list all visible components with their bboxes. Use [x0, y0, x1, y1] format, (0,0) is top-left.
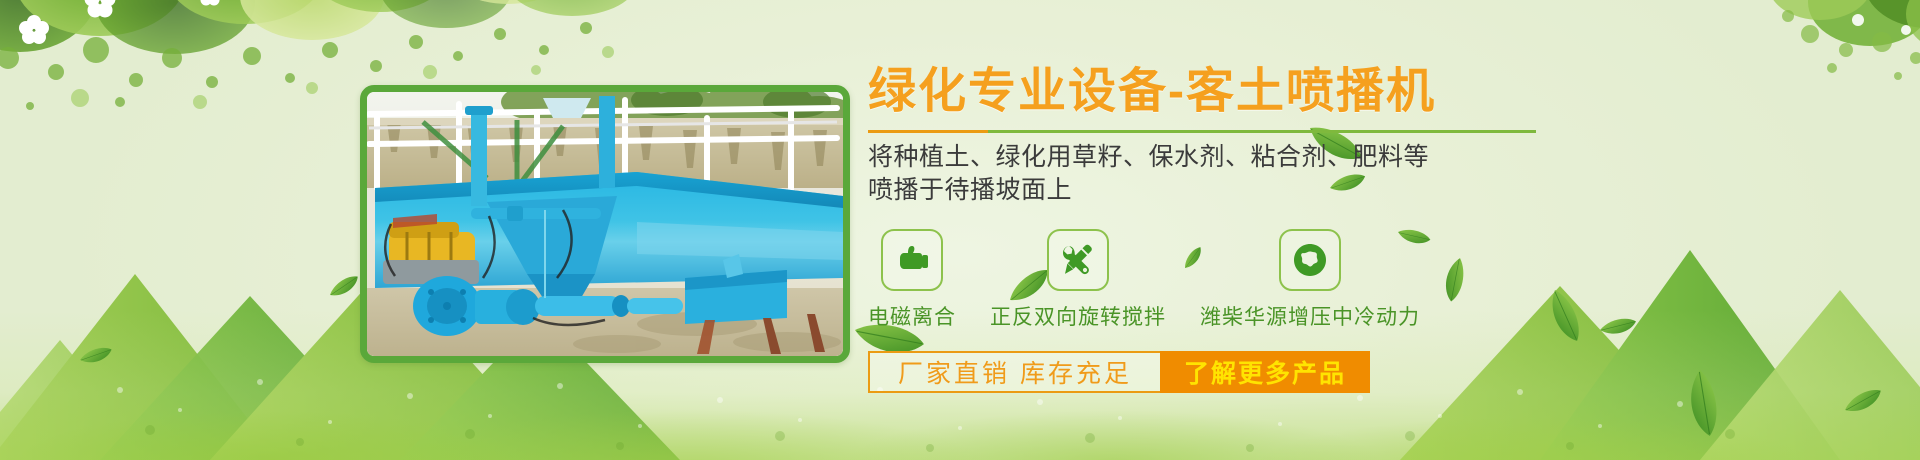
product-photo	[367, 92, 843, 356]
promo-banner: 绿化专业设备-客土喷播机 将种植土、绿化用草籽、保水剂、粘合剂、肥料等 喷播于待…	[0, 0, 1920, 460]
feature-item-mixing[interactable]: 正反双向旋转搅拌	[990, 229, 1166, 331]
tools-wrench-screwdriver-icon	[1047, 229, 1109, 291]
learn-more-button[interactable]: 了解更多产品	[1160, 351, 1370, 393]
selling-points-box: 厂家直销 库存充足	[868, 351, 1160, 393]
feature-label: 正反双向旋转搅拌	[990, 301, 1166, 331]
feature-item-engine[interactable]: 潍柴华源增压中冷动力	[1200, 229, 1420, 331]
cta-bar: 厂家直销 库存充足 了解更多产品	[868, 351, 1878, 393]
subtitle-line-1: 将种植土、绿化用草籽、保水剂、粘合剂、肥料等	[868, 141, 1878, 174]
engine-gear-icon	[1279, 229, 1341, 291]
feature-item-clutch[interactable]: 电磁离合	[868, 229, 956, 331]
feature-label: 潍柴华源增压中冷动力	[1200, 301, 1420, 331]
product-photo-frame[interactable]	[360, 85, 850, 363]
clutch-motor-icon	[881, 229, 943, 291]
feature-list: 电磁离合 正	[868, 229, 1878, 331]
title-divider	[868, 130, 1536, 133]
selling-points-label: 厂家直销 库存充足	[898, 354, 1132, 390]
subtitle-line-2: 喷播于待播坡面上	[868, 174, 1878, 207]
banner-content: 绿化专业设备-客土喷播机 将种植土、绿化用草籽、保水剂、粘合剂、肥料等 喷播于待…	[868, 66, 1878, 393]
page-title: 绿化专业设备-客土喷播机	[868, 66, 1878, 118]
learn-more-label: 了解更多产品	[1184, 354, 1346, 390]
feature-label: 电磁离合	[868, 301, 956, 331]
